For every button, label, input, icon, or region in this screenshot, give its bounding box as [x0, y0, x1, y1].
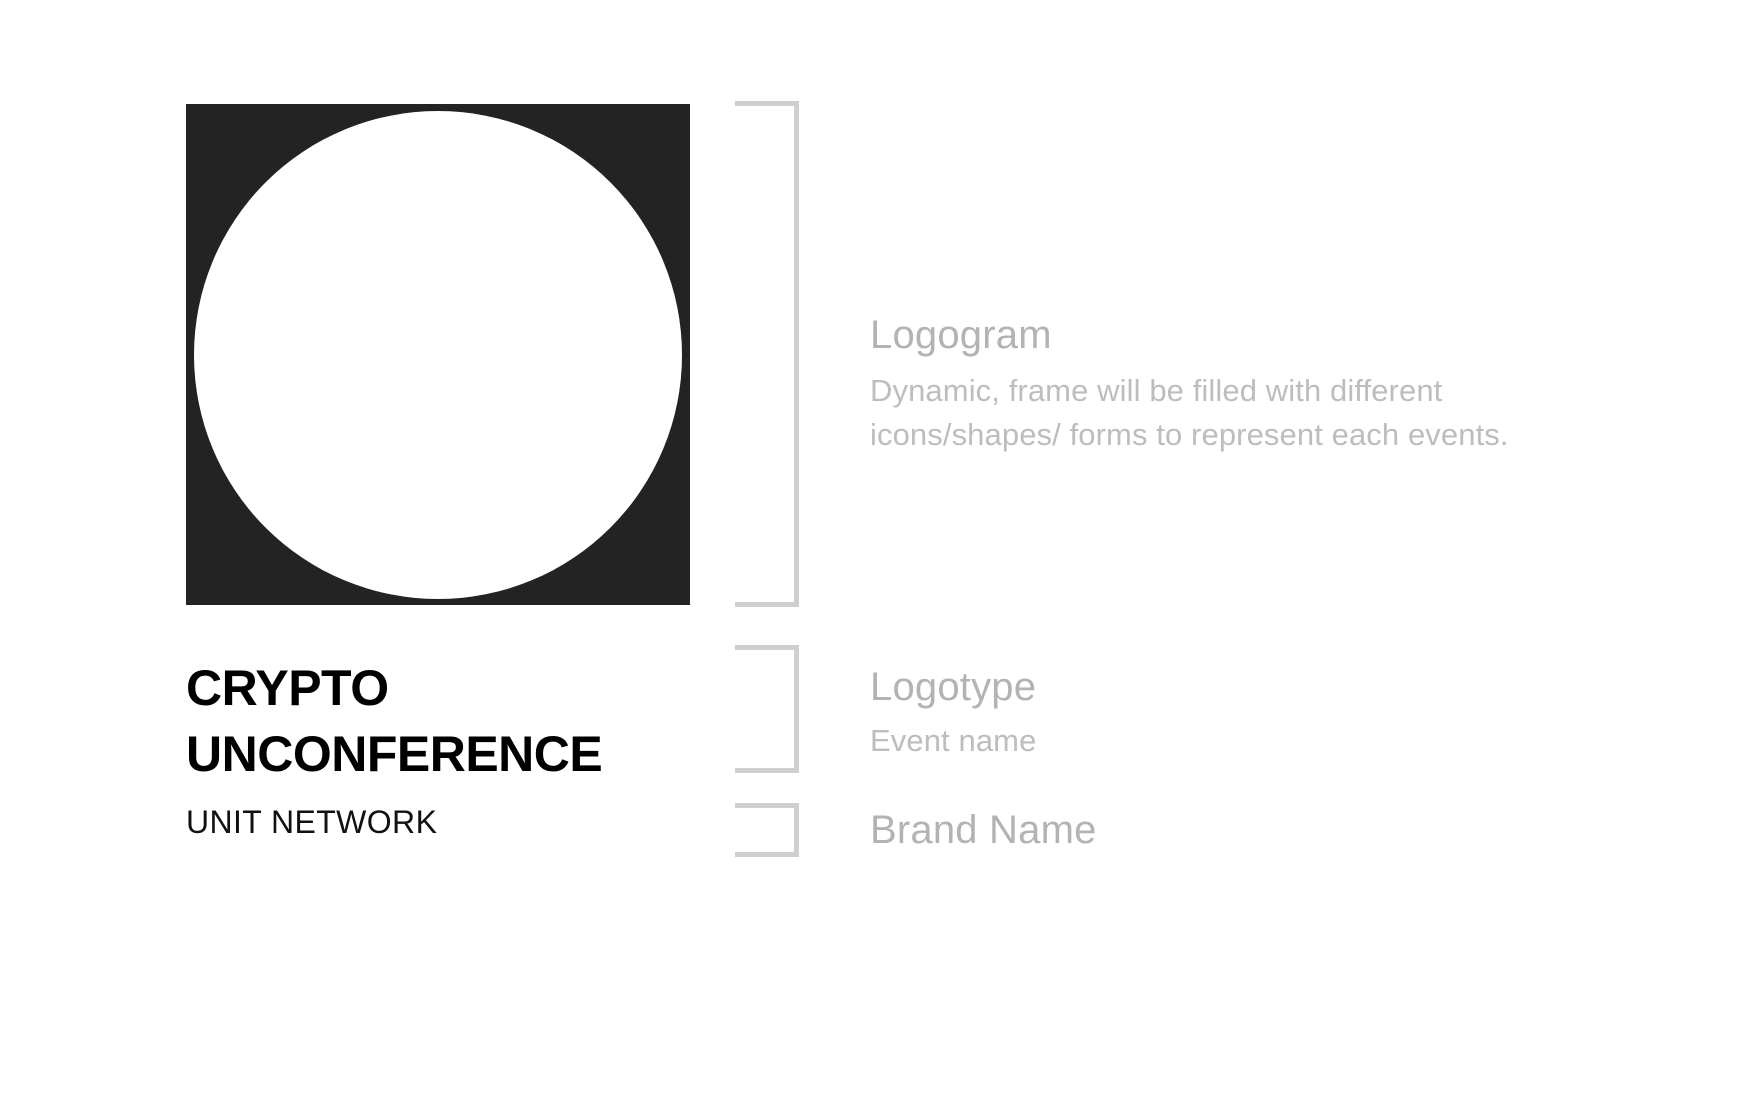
annotation-logogram-title: Logogram — [870, 313, 1630, 359]
logogram-frame — [186, 104, 690, 605]
annotation-brandname: Brand Name — [870, 808, 1370, 854]
annotation-logogram: Logogram Dynamic, frame will be filled w… — [870, 313, 1630, 457]
logotype-text: CRYPTO UNCONFERENCE — [186, 655, 746, 787]
annotation-logotype-title: Logotype — [870, 665, 1370, 711]
annotation-logogram-description: Dynamic, frame will be filled with diffe… — [870, 369, 1630, 457]
bracket-logogram-icon — [735, 101, 799, 607]
bracket-brandname-icon — [735, 803, 799, 857]
annotation-column: Logogram Dynamic, frame will be filled w… — [870, 0, 1690, 1108]
annotation-brandname-title: Brand Name — [870, 808, 1370, 854]
brand-name-text: UNIT NETWORK — [186, 803, 746, 841]
circle-icon — [194, 111, 682, 599]
bracket-logotype-icon — [735, 645, 799, 773]
logo-lockup: CRYPTO UNCONFERENCE UNIT NETWORK — [186, 104, 746, 841]
annotation-logotype: Logotype Event name — [870, 665, 1370, 763]
annotation-logotype-description: Event name — [870, 719, 1370, 763]
